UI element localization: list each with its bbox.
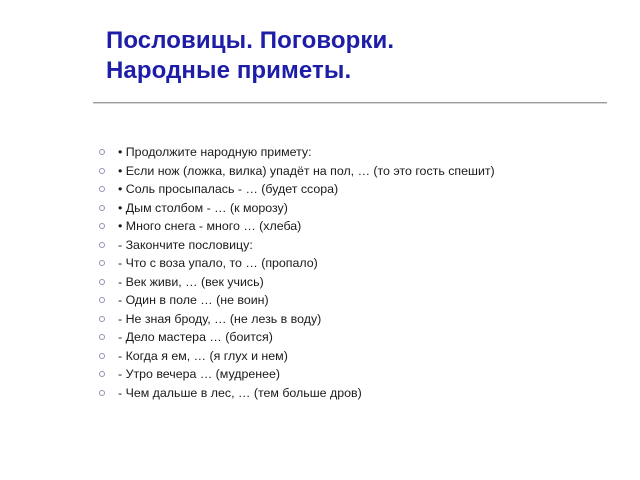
list-item-label: - Когда я ем, … (я глух и нем) [118, 348, 616, 366]
list-item-label: - Закончите пословицу: [118, 237, 616, 255]
list-item-label: - Что с воза упало, то … (пропало) [118, 255, 616, 273]
list-item-label: - Не зная броду, … (не лезь в воду) [118, 311, 616, 329]
list-item-label: • Соль просыпалась - … (будет ссора) [118, 181, 616, 199]
list-item: - Когда я ем, … (я глух и нем) [96, 348, 616, 366]
hollow-circle-bullet-icon [99, 242, 105, 248]
hollow-circle-bullet-icon [99, 223, 105, 229]
list-item: - Один в поле … (не воин) [96, 292, 616, 310]
list-item: - Закончите пословицу: [96, 237, 616, 255]
list-item-label: - Утро вечера … (мудренее) [118, 366, 616, 384]
proverbs-list: • Продолжите народную примету:• Если нож… [96, 144, 616, 403]
list-item: - Что с воза упало, то … (пропало) [96, 255, 616, 273]
list-item-label: • Дым столбом - … (к морозу) [118, 200, 616, 218]
list-item-label: - Век живи, … (век учись) [118, 274, 616, 292]
hollow-circle-bullet-icon [99, 353, 105, 359]
hollow-circle-bullet-icon [99, 149, 105, 155]
list-item-label: • Продолжите народную примету: [118, 144, 616, 162]
hollow-circle-bullet-icon [99, 279, 105, 285]
list-item: • Продолжите народную примету: [96, 144, 616, 162]
list-item-label: - Чем дальше в лес, … (тем больше дров) [118, 385, 616, 403]
list-item-label: - Дело мастера … (боится) [118, 329, 616, 347]
list-item: • Дым столбом - … (к морозу) [96, 200, 616, 218]
hollow-circle-bullet-icon [99, 334, 105, 340]
list-item: • Если нож (ложка, вилка) упадёт на пол,… [96, 163, 616, 181]
hollow-circle-bullet-icon [99, 390, 105, 396]
page-title: Пословицы. Поговорки. Народные приметы. [92, 26, 612, 86]
list-item: - Не зная броду, … (не лезь в воду) [96, 311, 616, 329]
list-item: • Много снега - много … (хлеба) [96, 218, 616, 236]
list-item-label: - Один в поле … (не воин) [118, 292, 616, 310]
hollow-circle-bullet-icon [99, 186, 105, 192]
hollow-circle-bullet-icon [99, 371, 105, 377]
hollow-circle-bullet-icon [99, 260, 105, 266]
list-item-label: • Если нож (ложка, вилка) упадёт на пол,… [118, 163, 616, 181]
list-item: - Век живи, … (век учись) [96, 274, 616, 292]
list-item: • Соль просыпалась - … (будет ссора) [96, 181, 616, 199]
list-item-label: • Много снега - много … (хлеба) [118, 218, 616, 236]
hollow-circle-bullet-icon [99, 316, 105, 322]
list-item: - Дело мастера … (боится) [96, 329, 616, 347]
list-item: - Чем дальше в лес, … (тем больше дров) [96, 385, 616, 403]
list-item: - Утро вечера … (мудренее) [96, 366, 616, 384]
title-block: Пословицы. Поговорки. Народные приметы. [92, 26, 612, 86]
hollow-circle-bullet-icon [99, 205, 105, 211]
hollow-circle-bullet-icon [99, 297, 105, 303]
hollow-circle-bullet-icon [99, 168, 105, 174]
title-divider [93, 102, 607, 104]
slide-canvas: Пословицы. Поговорки. Народные приметы. … [0, 0, 640, 480]
